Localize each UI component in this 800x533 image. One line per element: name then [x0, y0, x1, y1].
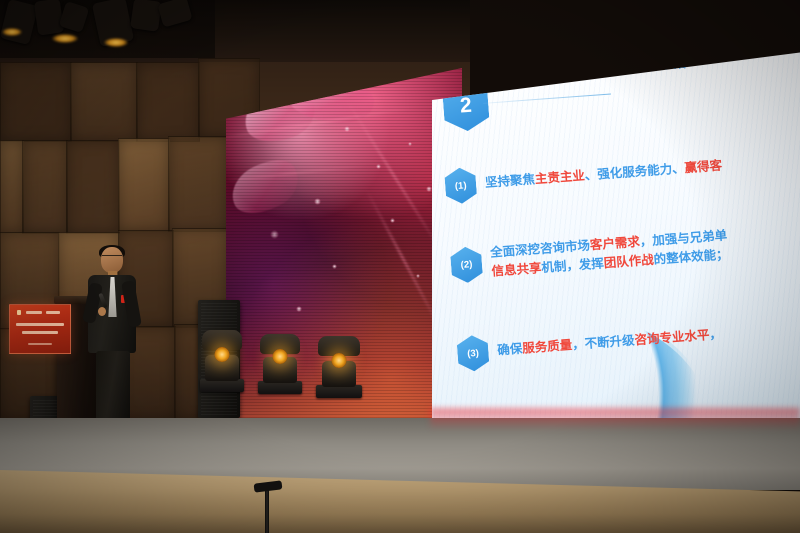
wall-panel [22, 140, 68, 234]
bullet-marker-label: (3) [467, 347, 479, 359]
light-lens-glow [332, 353, 347, 368]
bullet-text-segment: 的整体效能； [653, 248, 729, 267]
ceiling-light-fixture [130, 0, 162, 32]
bullet-text-segment: 信息共享 [491, 261, 542, 279]
wall-panel [0, 62, 72, 142]
light-lens-glow [273, 349, 288, 364]
microphone-stand [265, 487, 269, 533]
bullet-text: 确保服务质量，不断升级咨询专业水平， [497, 325, 723, 361]
wall-panel [136, 62, 200, 142]
presentation-slide: 2 联合经营中的主要举措 (1) 坚持聚焦主责主业、强化服务能力、赢得客 (2)… [432, 52, 800, 452]
moving-head-light [316, 336, 362, 398]
bullet-marker-hexagon: (3) [456, 334, 490, 372]
hand [98, 307, 106, 316]
section-number-label: 2 [459, 94, 472, 119]
bullet-marker-label: (2) [460, 259, 472, 271]
bullet-text-segment: 团队作战 [603, 253, 654, 271]
wall-panel [70, 62, 138, 142]
bullet-text-segment: ， [709, 327, 723, 342]
ceiling-light-glow [52, 34, 78, 43]
light-lens-glow [215, 347, 230, 362]
bullet-text-line: 确保服务质量，不断升级咨询专业水平， [497, 325, 723, 361]
title-connector-line [483, 93, 611, 103]
podium-banner [9, 304, 71, 354]
ceiling-light-glow [2, 28, 22, 36]
glasses-icon [102, 255, 122, 261]
bullet-text-segment: 客户需求 [589, 235, 640, 253]
moving-head-light [200, 330, 244, 392]
bullet-text-line: 坚持聚焦主责主业、强化服务能力、赢得客 [484, 157, 722, 194]
bullet-marker-hexagon: (1) [444, 167, 478, 205]
slide-bullet-row: (1) 坚持聚焦主责主业、强化服务能力、赢得客 [444, 149, 723, 205]
bullet-text-segment: 咨询专业水平 [634, 328, 710, 347]
speaker-person [84, 247, 140, 433]
bullet-marker-label: (1) [455, 180, 467, 192]
bullet-text-segment: 、强化服务能力、 [584, 162, 685, 183]
ceiling-light-fixture [34, 0, 64, 36]
wall-panel [168, 136, 228, 232]
bullet-text-segment: 机制，发挥 [541, 257, 604, 276]
wall-panel [66, 140, 120, 234]
bullet-text-segment: 服务质量 [522, 338, 573, 356]
wall-panel [118, 138, 170, 232]
moving-head-light [258, 334, 302, 394]
banner-logo-icon [17, 310, 21, 315]
bullet-text: 坚持聚焦主责主业、强化服务能力、赢得客 [484, 157, 722, 194]
slide-title: 联合经营中的主要举措 [546, 52, 687, 81]
ceiling-light-glow [104, 38, 128, 47]
wall-panel [0, 140, 24, 234]
bullet-text: 全面深挖咨询市场客户需求，加强与兄弟单信息共享机制，发挥团队作战的整体效能； [490, 226, 730, 282]
bullet-text-segment: 主责主业 [534, 169, 585, 187]
bullet-text-segment: 赢得客 [684, 159, 722, 176]
red-light-spill [430, 408, 800, 430]
bullet-marker-hexagon: (2) [450, 246, 484, 284]
conference-stage-photo: 2 联合经营中的主要举措 (1) 坚持聚焦主责主业、强化服务能力、赢得客 (2)… [0, 0, 800, 533]
bullet-text-segment: ，不断升级 [572, 334, 635, 353]
bullet-text-segment: 坚持聚焦 [485, 173, 536, 191]
slide-bullet-row: (2) 全面深挖咨询市场客户需求，加强与兄弟单信息共享机制，发挥团队作战的整体效… [450, 226, 730, 285]
bullet-text-segment: 确保 [497, 342, 523, 358]
